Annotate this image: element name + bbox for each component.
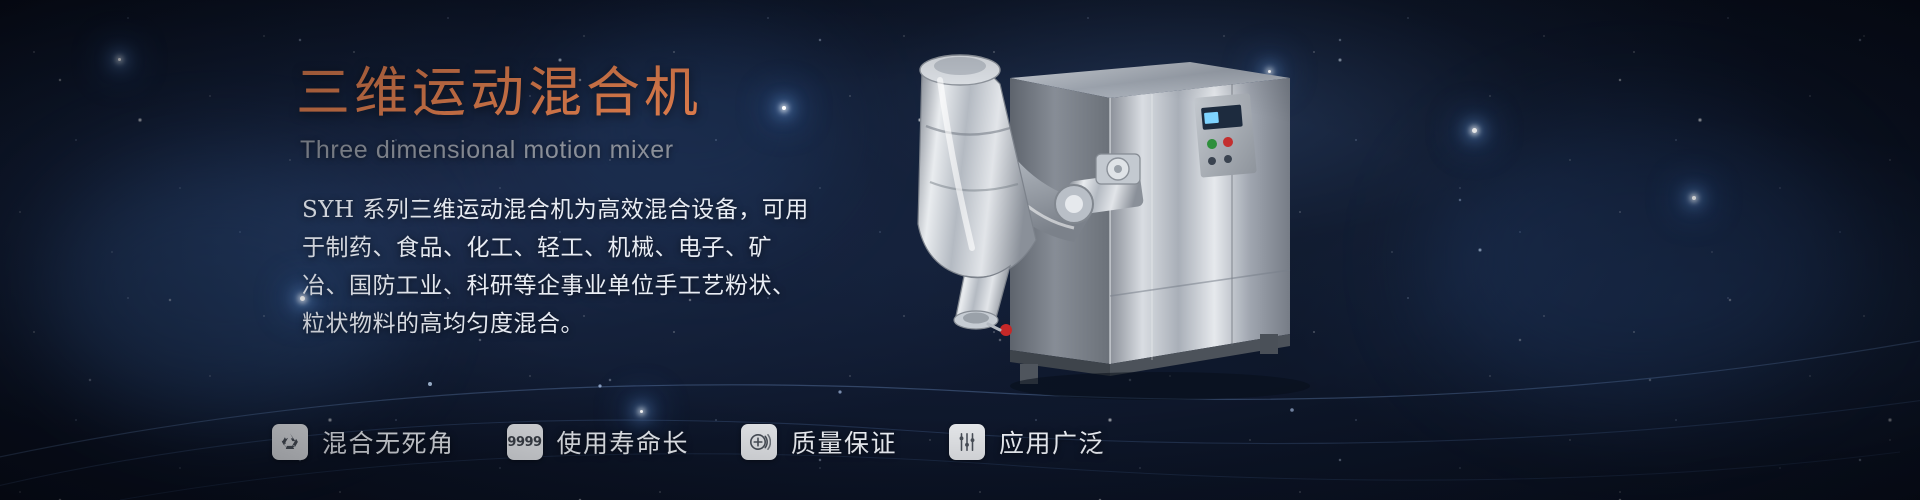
vignette-overlay xyxy=(0,0,1920,500)
hero-banner: 三维运动混合机 Three dimensional motion mixer S… xyxy=(0,0,1920,500)
